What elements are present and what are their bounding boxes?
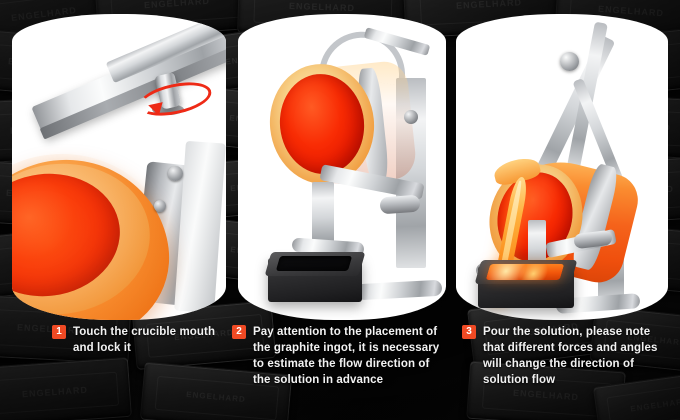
pivot-pin [379,195,420,215]
step-panel-3 [456,14,668,320]
step-badge-2: 2 [232,325,246,339]
bolt-icon [168,166,183,181]
bolt-icon [154,200,166,212]
step-caption-text-1: Touch the crucible mouth and lock it [73,324,230,356]
pivot-bolt-icon [404,110,418,124]
molten-metal-in-mold [486,264,565,280]
step-panel-2 [238,14,446,320]
step-badge-3: 3 [462,325,476,339]
step-panel-1 [12,14,226,320]
graphite-ingot-placement-illustration [238,14,446,320]
graphite-ingot-mold-cavity [276,256,352,271]
crucible-lock-closeup-illustration [12,14,226,320]
instruction-scene: ENGELHARD ENGELHARD ENGELHARD ENGELHARD … [0,0,680,420]
step-caption-text-3: Pour the solution, please note that diff… [483,324,674,388]
tong-pivot-icon [560,52,579,71]
pour-solution-illustration [456,14,668,320]
step-badge-1: 1 [52,325,66,339]
step-caption-1: 1 Touch the crucible mouth and lock it [52,324,230,356]
step-caption-2: 2 Pay attention to the placement of the … [232,324,448,388]
step-caption-3: 3 Pour the solution, please note that di… [462,324,674,388]
stand-foot-right [356,280,443,300]
background-ingot: ENGELHARD [0,357,132,420]
step-caption-text-2: Pay attention to the placement of the gr… [253,324,448,388]
